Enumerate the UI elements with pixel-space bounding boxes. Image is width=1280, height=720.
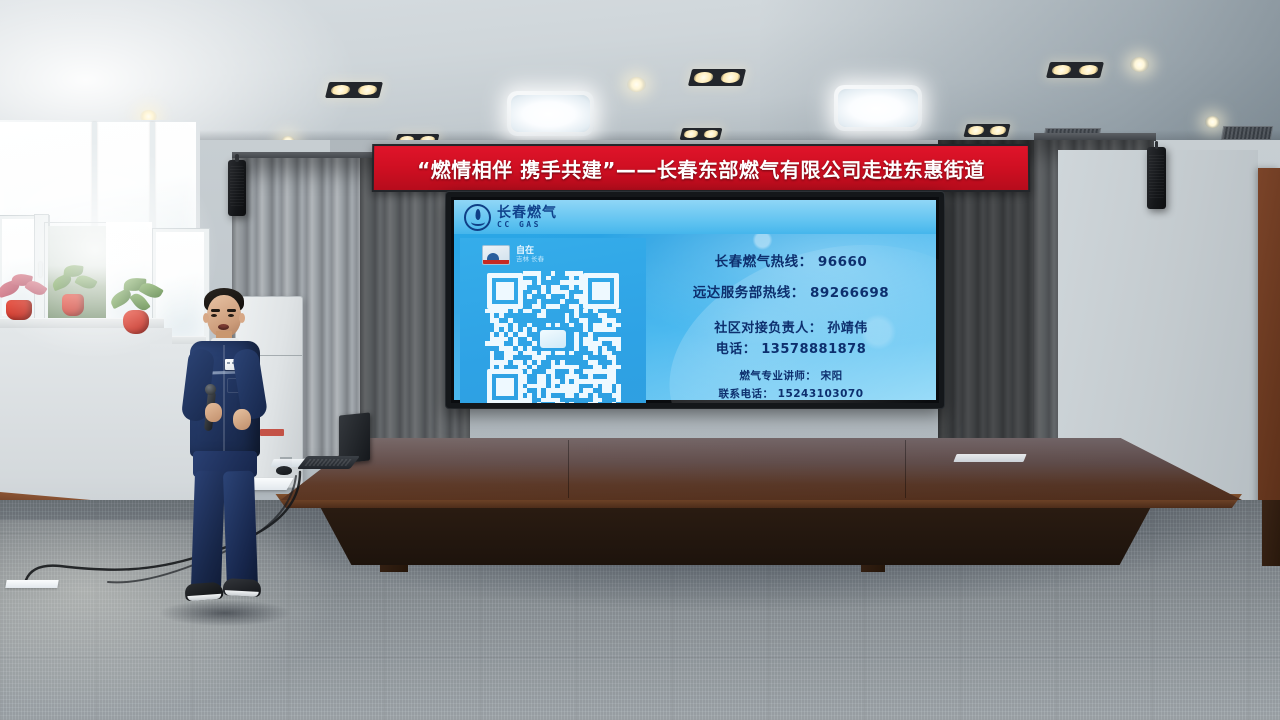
qr-profile: 自在 吉林 长春 [482,245,624,265]
presenter-right-hand [233,409,251,430]
ceiling-panel-light-icon [834,85,922,131]
presenter-left-leg [191,471,225,590]
banner-text: “燃情相伴 携手共建”——长春东部燃气有限公司走进东惠街道 [417,154,985,183]
plant-leaves [52,264,98,298]
hotline-changchun: 长春燃气热线： 96660 [715,250,868,270]
flame-in-circle-icon [464,204,491,231]
gas-instructor-phone: 联系电话： 15243103070 [718,386,863,401]
ceiling-spot-light-icon [1205,116,1220,128]
presenter-standing [173,283,279,620]
led-display[interactable]: 长春燃气 CC GAS 自在 吉林 长春 [446,192,944,408]
plant-leaves [110,276,166,316]
community-liaison-phone: 电话： 13578881878 [716,338,867,357]
table-seam [905,440,906,498]
qr-finder-top-left [487,273,523,309]
ceiling-duo-spot-icon [680,128,723,140]
presenter-eye [228,314,234,317]
presenter-brow [227,309,236,312]
presenter-right-shoe [223,578,262,597]
presentation-slide: 长春燃气 CC GAS 自在 吉林 长春 [454,200,936,400]
speaker-mount [1155,141,1159,149]
logo-chinese-text: 长春燃气 [497,206,557,220]
shoe-sole [187,594,221,601]
hotline-yuanda-service: 远达服务部热线： 89266698 [693,281,889,301]
qr-panel: 自在 吉林 长春 扫一扫上面的二维码图案，加我为朋友。 [460,238,646,408]
qr-finder-top-right [583,273,619,309]
logo-english-text: CC GAS [497,221,557,229]
brand-logo: 长春燃气 CC GAS [497,206,557,229]
qr-profile-names: 自在 吉林 长春 [516,246,544,264]
slide-header: 长春燃气 CC GAS [454,200,936,234]
presenter-right-leg [223,470,258,591]
table-leg [1262,500,1280,566]
presenter-eye [211,314,217,317]
plant-leaves [0,272,50,306]
door-frame [1258,168,1280,520]
ceiling-spot-light-icon [1130,57,1149,72]
table-cable-grommet [953,454,1026,462]
qr-code-icon[interactable] [485,271,621,407]
presenter-ear [239,313,245,323]
event-banner: “燃情相伴 携手共建”——长春东部燃气有限公司走进东惠街道 [372,144,1030,192]
speaker-grille [230,166,244,206]
presenter-left-shoe [184,582,223,602]
ceiling-duo-spot-icon [688,69,746,86]
ceiling-duo-spot-icon [325,82,383,98]
qr-center-logo [540,330,566,348]
shoe-sole [225,590,259,597]
table-apron [318,503,1153,565]
ceiling-panel-light-icon [507,91,594,136]
qr-profile-sub: 吉林 长春 [516,256,544,263]
conference-room-photo: “燃情相伴 携手共建”——长春东部燃气有限公司走进东惠街道 长春燃气 CC GA… [0,0,1280,720]
presenter-ear [203,313,209,323]
gas-instructor-name: 燃气专业讲师： 宋阳 [739,368,842,383]
speaker-mount [235,154,239,162]
presenter-brow [211,309,220,312]
ceiling-duo-spot-icon [963,124,1010,137]
qr-finder-bottom-left [487,369,523,405]
wall-speaker-right [1147,147,1166,209]
floor-cable-cover [5,580,58,588]
community-liaison-name: 社区对接负责人： 孙靖伟 [714,317,868,336]
ceiling-air-vent-icon [1221,126,1273,140]
ceiling-duo-spot-icon [1046,62,1104,78]
microphone-head-icon [205,384,216,395]
contact-info-panel: 长春燃气热线： 96660 远达服务部热线： 89266698 社区对接负责人：… [652,238,930,408]
wechat-avatar-icon [482,245,510,265]
wall-speaker-left [228,160,246,216]
presenter-left-hand [205,403,222,422]
speaker-grille [1149,153,1163,198]
table-seam [568,440,569,498]
ceiling-spot-light-icon [627,77,646,92]
slide-body: 自在 吉林 长春 扫一扫上面的二维码图案，加我为朋友。 [454,234,936,408]
presenter-mouth [218,324,229,330]
